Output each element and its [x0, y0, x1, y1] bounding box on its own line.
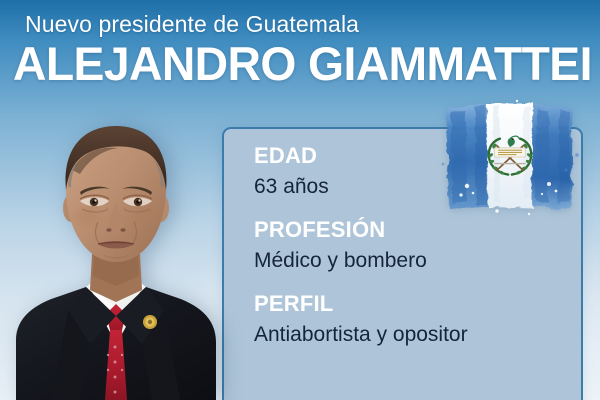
infographic-canvas: Nuevo presidente de Guatemala ALEJANDRO …: [0, 0, 600, 400]
guatemala-flag-icon: [437, 98, 583, 216]
field-value-perfil: Antiabortista y opositor: [254, 321, 567, 348]
field-label-perfil: PERFIL: [254, 291, 567, 318]
field-perfil: PERFIL Antiabortista y opositor: [254, 291, 567, 348]
field-label-profesion: PROFESIÓN: [254, 217, 567, 244]
header-kicker: Nuevo presidente de Guatemala: [25, 11, 359, 38]
portrait-photo: [0, 104, 238, 400]
header-headline: ALEJANDRO GIAMMATTEI: [13, 40, 592, 87]
field-value-profesion: Médico y bombero: [254, 247, 567, 274]
field-profesion: PROFESIÓN Médico y bombero: [254, 217, 567, 274]
